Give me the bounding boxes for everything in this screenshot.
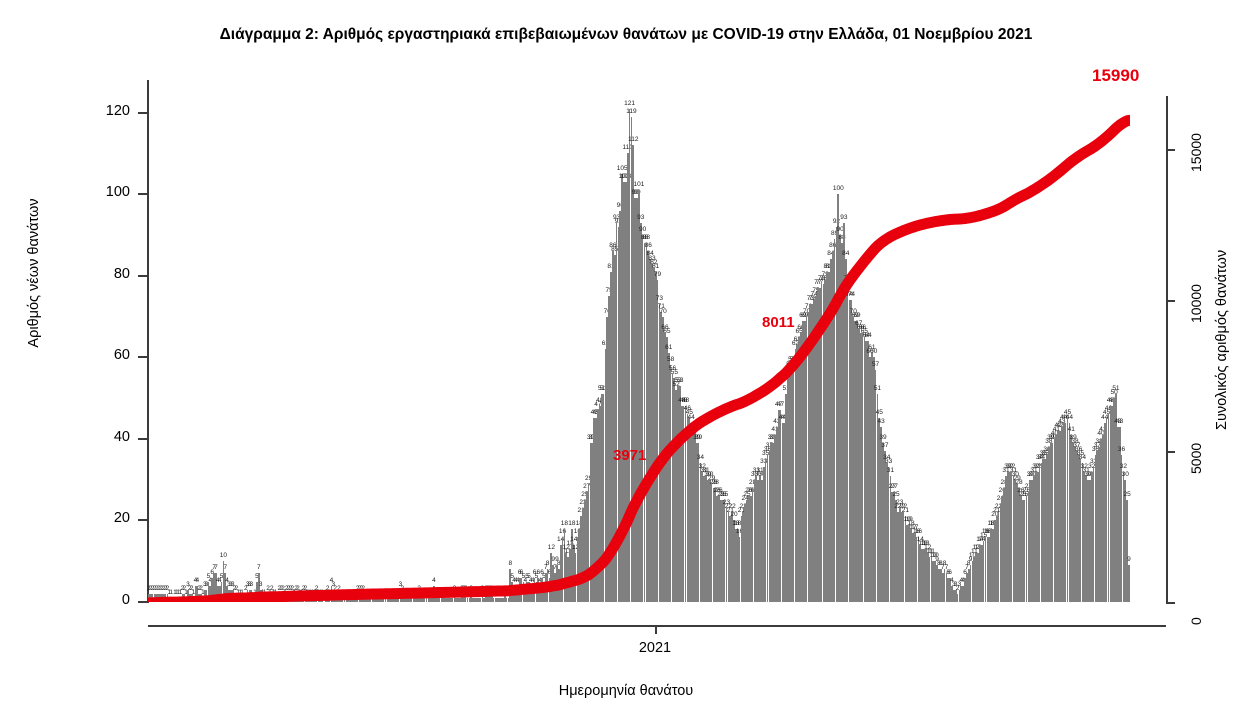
bar-value-label: 64 (864, 332, 871, 339)
bar-value-label: 7 (214, 564, 218, 571)
bar-value-label: 3 (250, 581, 254, 588)
bar-value-label: 74 (848, 291, 855, 298)
bar-value-label: 88 (643, 234, 650, 241)
bar-value-label: 84 (842, 250, 849, 257)
bar (275, 598, 277, 602)
bar-value-label: 8 (509, 560, 513, 567)
bars-layer: 2222222222211111122132214422133546774451… (148, 80, 1130, 602)
bar-value-label: 4 (432, 577, 436, 584)
bar-value-label: 28 (1015, 479, 1022, 486)
bar-value-label: 31 (887, 467, 894, 474)
chart-root: Διάγραμμα 2: Αριθμός εργαστηριακά επιβεβ… (0, 0, 1252, 720)
bar-value-label: 93 (637, 214, 644, 221)
x-axis-tick-2021 (655, 625, 657, 634)
bar-value-label: 21 (902, 507, 909, 514)
bar-value-label: 101 (633, 181, 644, 188)
bar-value-label: 4 (195, 577, 199, 584)
y-tick-left-20 (138, 519, 147, 521)
bar-value-label: 43 (1116, 418, 1123, 425)
bar-value-label: 25 (892, 491, 899, 498)
y-tick-label-left-120: 120 (70, 103, 130, 119)
bar (321, 598, 323, 602)
bar-value-label: 70 (660, 308, 667, 315)
bar-value-label: 93 (840, 214, 847, 221)
y-tick-left-40 (138, 438, 147, 440)
bar-value-label: 61 (665, 344, 672, 351)
bar-value-label: 44 (687, 414, 694, 421)
y-axis-right-label: Συνολικός αριθμός θανάτων (1214, 250, 1230, 430)
bar-value-label: 51 (1112, 385, 1119, 392)
y-axis-left-label: Αριθμός νέων θανάτων (26, 73, 42, 473)
bar-value-label: 119 (626, 108, 636, 115)
y-tick-label-left-100: 100 (70, 184, 130, 200)
annotation-15990: 15990 (1092, 66, 1139, 86)
bar-value-label: 43 (878, 418, 885, 425)
y-tick-label-right-15000: 15000 (1188, 133, 1204, 172)
bar-value-label: 44 (1066, 414, 1073, 421)
bar-value-label: 37 (881, 442, 888, 449)
bar-value-label: 7 (223, 564, 227, 571)
y-tick-label-left-40: 40 (70, 429, 130, 445)
annotation-3971: 3971 (613, 447, 646, 464)
bar-value-label: 86 (645, 242, 652, 249)
y-tick-label-right-0: 0 (1188, 617, 1204, 625)
bar-value-label: 30 (1122, 471, 1129, 478)
bar-value-label: 51 (874, 385, 881, 392)
bar-value-label: 22 (728, 503, 735, 510)
bar-value-label: 7 (257, 564, 261, 571)
bar-value-label: 100 (833, 185, 844, 192)
bar-value-label: 20 (730, 511, 737, 518)
bar-value-label: 16 (915, 528, 922, 535)
bar-value-label: 36 (1118, 446, 1125, 453)
bar-value-label: 34 (697, 454, 704, 461)
bar-value-label: 81 (652, 263, 659, 270)
bar-value-label: 73 (656, 295, 663, 302)
bar-value-label: 60 (870, 348, 877, 355)
bar-value-label: 9 (1127, 556, 1131, 563)
bar-value-label: 69 (853, 312, 860, 319)
bar-value-label: 58 (667, 356, 674, 363)
y-tick-label-right-5000: 5000 (1188, 443, 1204, 474)
plot-area: 2222222222211111122132214422133546774451… (148, 80, 1130, 602)
bar-value-label: 42 (691, 422, 698, 429)
x-axis-spine (148, 625, 1166, 627)
y-tick-left-60 (138, 356, 147, 358)
chart-title: Διάγραμμα 2: Αριθμός εργαστηριακά επιβεβ… (0, 26, 1252, 44)
y-tick-left-120 (138, 112, 147, 114)
bar-value-label: 25 (721, 491, 728, 498)
bar-value-label: 18 (561, 520, 568, 527)
bar-value-label: 12 (548, 544, 555, 551)
y-tick-right-10000 (1166, 300, 1175, 302)
y-tick-label-right-10000: 10000 (1188, 284, 1204, 323)
bar-value-label: 8 (546, 560, 550, 567)
bar (1128, 565, 1130, 602)
bar-value-label: 90 (639, 226, 646, 233)
bar-value-label: 53 (676, 377, 683, 384)
bar-value-label: 32 (1120, 463, 1127, 470)
bar-value-label: 10 (220, 552, 227, 559)
bar-value-label: 45 (876, 409, 883, 416)
y-tick-label-left-60: 60 (70, 347, 130, 363)
y-tick-right-0 (1166, 602, 1175, 604)
bar-value-label: 112 (628, 136, 638, 143)
y-tick-left-100 (138, 193, 147, 195)
bar-value-label: 48 (682, 397, 689, 404)
bar-value-label: 55 (671, 369, 678, 376)
bar-value-label: 25 (1124, 491, 1131, 498)
bar-value-label: 6 (948, 569, 952, 576)
bar-value-label: 65 (663, 328, 670, 335)
x-axis-tick-label-2021: 2021 (600, 640, 710, 656)
bar (250, 590, 252, 602)
annotation-8011: 8011 (762, 314, 795, 331)
bar-value-label: 3 (259, 581, 263, 588)
bar-value-label: 27 (891, 483, 898, 490)
bar-value-label: 34 (1079, 454, 1086, 461)
bar-value-label: 18 (568, 520, 575, 527)
y-tick-left-0 (138, 601, 147, 603)
bar-value-label: 33 (885, 458, 892, 465)
bar-value-label: 39 (879, 434, 886, 441)
bar-value-label: 78 (844, 275, 851, 282)
y-tick-right-5000 (1166, 451, 1175, 453)
bar-value-label: 47 (777, 401, 784, 408)
y-tick-label-left-0: 0 (70, 592, 130, 608)
bar-value-label: 121 (624, 100, 635, 107)
y-tick-right-15000 (1166, 149, 1175, 151)
y-axis-right-spine (1166, 96, 1168, 603)
bar-value-label: 79 (654, 271, 661, 278)
bar (241, 598, 243, 602)
y-tick-label-left-80: 80 (70, 266, 130, 282)
bar-value-label: 28 (712, 479, 719, 486)
bar-value-label: 57 (872, 361, 879, 368)
y-tick-left-80 (138, 275, 147, 277)
x-axis-label: Ημερομηνία θανάτου (0, 683, 1252, 699)
y-tick-label-left-20: 20 (70, 510, 130, 526)
bar (264, 598, 266, 602)
bar-value-label: 41 (1068, 426, 1075, 433)
bar-value-label: 39 (695, 434, 702, 441)
bar (170, 598, 172, 602)
